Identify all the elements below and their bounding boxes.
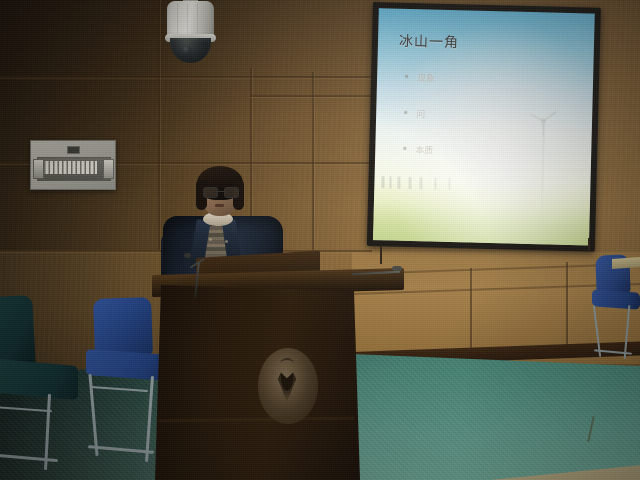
wall-seam (312, 72, 314, 250)
glasses-bridge (216, 191, 224, 192)
microphone-head-icon (184, 253, 191, 258)
slide-bullet-item: 问 (403, 107, 554, 147)
glasses-lens (203, 187, 218, 198)
screen-surface: 冰山一角 现象 问 本质 (373, 8, 595, 245)
camera-rib (197, 3, 198, 37)
slide-bullet-list: 现象 问 本质 (403, 71, 556, 183)
chair-backrest (93, 297, 153, 357)
glasses-lens (224, 187, 239, 198)
podium-emblem-icon (258, 348, 318, 424)
slide-bullet-item: 现象 (404, 71, 555, 111)
electrical-panel (30, 140, 116, 190)
panel-indicator-icon (67, 146, 80, 154)
wall-seam (0, 76, 372, 78)
chair-leg (145, 376, 154, 462)
emblem-mark (276, 370, 298, 402)
camera-lens-icon (182, 46, 191, 53)
chair-rail (0, 453, 58, 462)
presenter-mouth (215, 204, 224, 207)
microphone-head-icon (392, 266, 402, 271)
projection-screen: 冰山一角 现象 问 本质 (367, 2, 601, 252)
panel-latch (33, 159, 44, 179)
camera-rib (177, 3, 178, 37)
lecture-hall-photo: 冰山一角 现象 问 本质 (0, 0, 640, 480)
panel-latch (103, 159, 114, 179)
presenter-button (209, 238, 212, 241)
presenter-button (225, 240, 228, 243)
chair-leg (624, 305, 631, 359)
chair-seat (86, 349, 170, 381)
camera-rib (187, 3, 188, 37)
chair-rail (90, 386, 148, 392)
slide-bullet-item: 本质 (403, 143, 554, 183)
panel-breakers (41, 161, 97, 174)
chair-seat (592, 289, 640, 309)
dome-camera-icon (163, 1, 218, 63)
chair-rail (0, 406, 52, 412)
chair-seat (0, 358, 78, 400)
dado-seam (566, 262, 568, 350)
wall-seam (250, 95, 372, 97)
chair-right-blue (592, 255, 640, 360)
table-right-rear (612, 257, 640, 269)
wall-seam (158, 0, 160, 250)
chair-left-teal (0, 296, 78, 472)
slide-title: 冰山一角 (399, 31, 459, 53)
presenter-glasses-icon (203, 187, 237, 196)
emblem-arc (280, 358, 294, 370)
dado-seam (470, 268, 472, 356)
screen-cable (380, 246, 382, 264)
podium (155, 285, 360, 480)
screen-cable (588, 238, 590, 252)
